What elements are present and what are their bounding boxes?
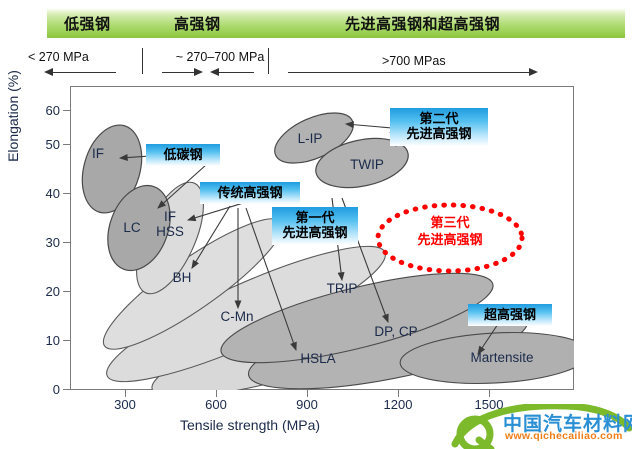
range-divider-right (268, 48, 269, 74)
x-tick-mark (489, 390, 490, 397)
arrow-left-icon (210, 68, 219, 76)
y-tick-label: 20 (34, 284, 60, 299)
y-tick-label: 50 (34, 137, 60, 152)
watermark-site-url: www.qichecailiao.com (505, 430, 623, 442)
callout-gen1-ahss[interactable]: 第一代 先进高强钢 (272, 207, 358, 245)
callout-conventional-hss[interactable]: 传统高强钢 (200, 182, 300, 204)
category-band (47, 8, 625, 38)
x-tick-label: 900 (287, 397, 327, 412)
y-tick-mark (63, 340, 70, 341)
infographic-root: 低强钢 高强钢 先进高强钢和超高强钢 < 270 MPa ~ 270–700 M… (0, 0, 632, 449)
category-label-high-strength: 高强钢 (174, 13, 221, 34)
arrow-left-icon (44, 68, 53, 76)
x-tick-label: 1200 (378, 397, 418, 412)
callout-line-2: 先进高强钢 (395, 126, 483, 141)
arrow-right-icon (529, 68, 538, 76)
region-label-if: IF (92, 146, 104, 161)
callout-line-1: 低碳钢 (163, 147, 202, 162)
x-tick-mark (307, 390, 308, 397)
callout-line-2: 先进高强钢 (277, 225, 353, 240)
range-divider-left (142, 48, 143, 74)
y-tick-mark (63, 144, 70, 145)
x-tick-label: 300 (105, 397, 145, 412)
region-label-dpcp: DP, CP (374, 324, 417, 339)
callout-low-carbon-steel[interactable]: 低碳钢 (146, 144, 220, 166)
region-label-lip: L-IP (298, 131, 323, 146)
category-label-low-strength: 低强钢 (64, 13, 111, 34)
region-label-cmn: C-Mn (221, 309, 254, 324)
region-label-trip: TRIP (327, 281, 358, 296)
y-tick-mark (63, 110, 70, 111)
y-axis-label: Elongation (%) (5, 70, 21, 162)
category-label-advanced-ultra-high-strength: 先进高强钢和超高强钢 (345, 13, 500, 34)
callout-line-1: 传统高强钢 (217, 185, 282, 200)
x-tick-label: 600 (196, 397, 236, 412)
callout-line-1: 第二代 (395, 111, 483, 126)
y-tick-label: 10 (34, 333, 60, 348)
y-tick-label: 40 (34, 186, 60, 201)
gen3-ahss-highlight-text: 第三代 先进高强钢 (374, 214, 526, 248)
callout-line-1: 超高强钢 (484, 307, 536, 322)
y-tick-label: 30 (34, 235, 60, 250)
range-line-high (288, 72, 535, 73)
x-tick-mark (216, 390, 217, 397)
range-line-mid-right (214, 72, 254, 73)
highlight-line-1: 第三代 (374, 214, 526, 231)
region-label-twip: TWIP (350, 157, 384, 172)
x-tick-mark (125, 390, 126, 397)
region-label-hsla: HSLA (300, 351, 335, 366)
x-axis-label: Tensile strength (MPa) (180, 417, 320, 433)
range-label-below-270: < 270 MPa (28, 50, 89, 64)
region-label-lc: LC (123, 220, 141, 235)
y-tick-mark (63, 193, 70, 194)
region-label-ifhss: IF (164, 209, 176, 224)
y-tick-label: 60 (34, 103, 60, 118)
callout-gen2-ahss[interactable]: 第二代 先进高强钢 (390, 108, 488, 146)
y-tick-label: 0 (34, 382, 60, 397)
y-tick-mark (63, 291, 70, 292)
range-line-low (48, 72, 116, 73)
callout-ultra-high-strength-steel[interactable]: 超高强钢 (468, 304, 552, 326)
region-label-ifhss2: HSS (156, 224, 184, 239)
region-label-martensite: Martensite (470, 350, 533, 365)
callout-line-1: 第一代 (277, 210, 353, 225)
y-tick-mark (63, 242, 70, 243)
arrow-right-icon (194, 68, 203, 76)
y-tick-mark (63, 389, 70, 390)
range-label-270-700: ~ 270–700 MPa (175, 50, 265, 64)
x-tick-mark (398, 390, 399, 397)
region-label-bh: BH (173, 270, 192, 285)
range-label-above-700: >700 MPas (382, 54, 446, 68)
highlight-line-2: 先进高强钢 (374, 231, 526, 248)
